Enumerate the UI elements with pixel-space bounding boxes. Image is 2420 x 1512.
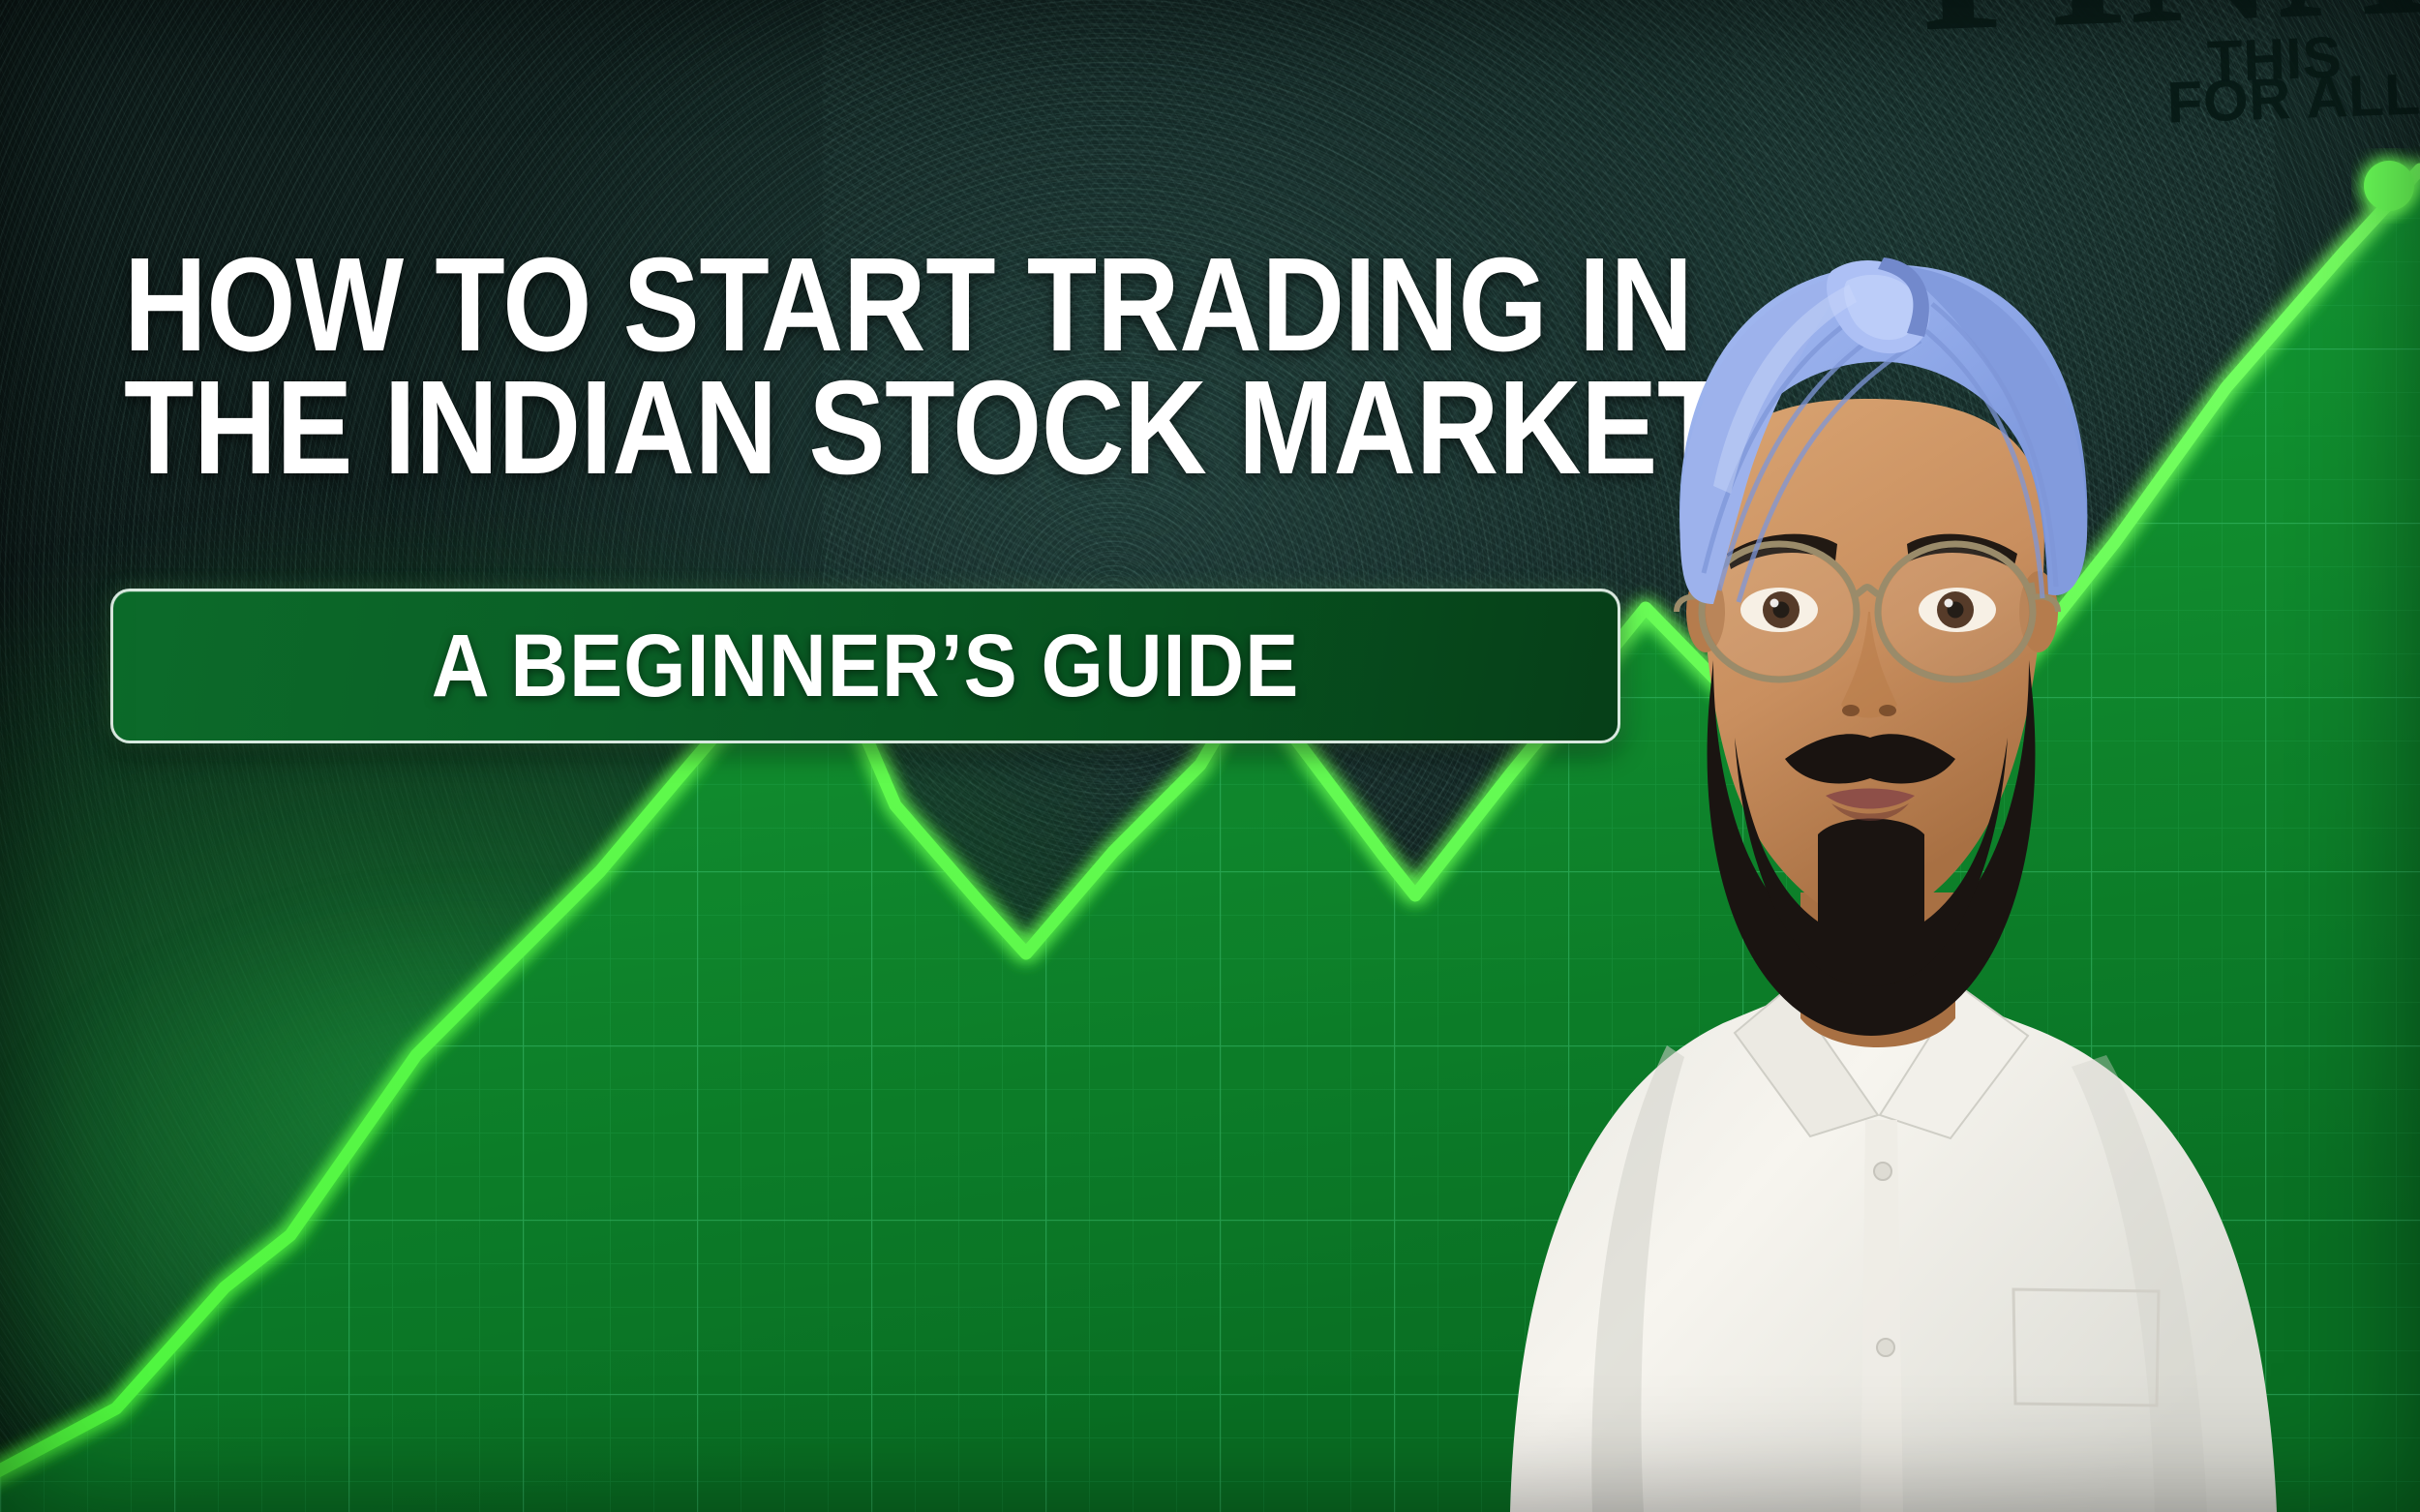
stock-chart <box>0 0 2420 1512</box>
headline: HOW TO START TRADING IN THE INDIAN STOCK… <box>124 244 1988 490</box>
chart-endpoint-marker <box>2364 161 2414 211</box>
stock-chart-svg <box>0 0 2420 1512</box>
headline-line-2: THE INDIAN STOCK MARKET <box>124 367 1727 490</box>
subtitle-banner: A BEGINNER’S GUIDE <box>110 589 1620 743</box>
headline-line-1: HOW TO START TRADING IN <box>124 244 1727 367</box>
youtube-thumbnail: FINA THIS FOR ALL <box>0 0 2420 1512</box>
subtitle-banner-label: A BEGINNER’S GUIDE <box>432 616 1299 717</box>
